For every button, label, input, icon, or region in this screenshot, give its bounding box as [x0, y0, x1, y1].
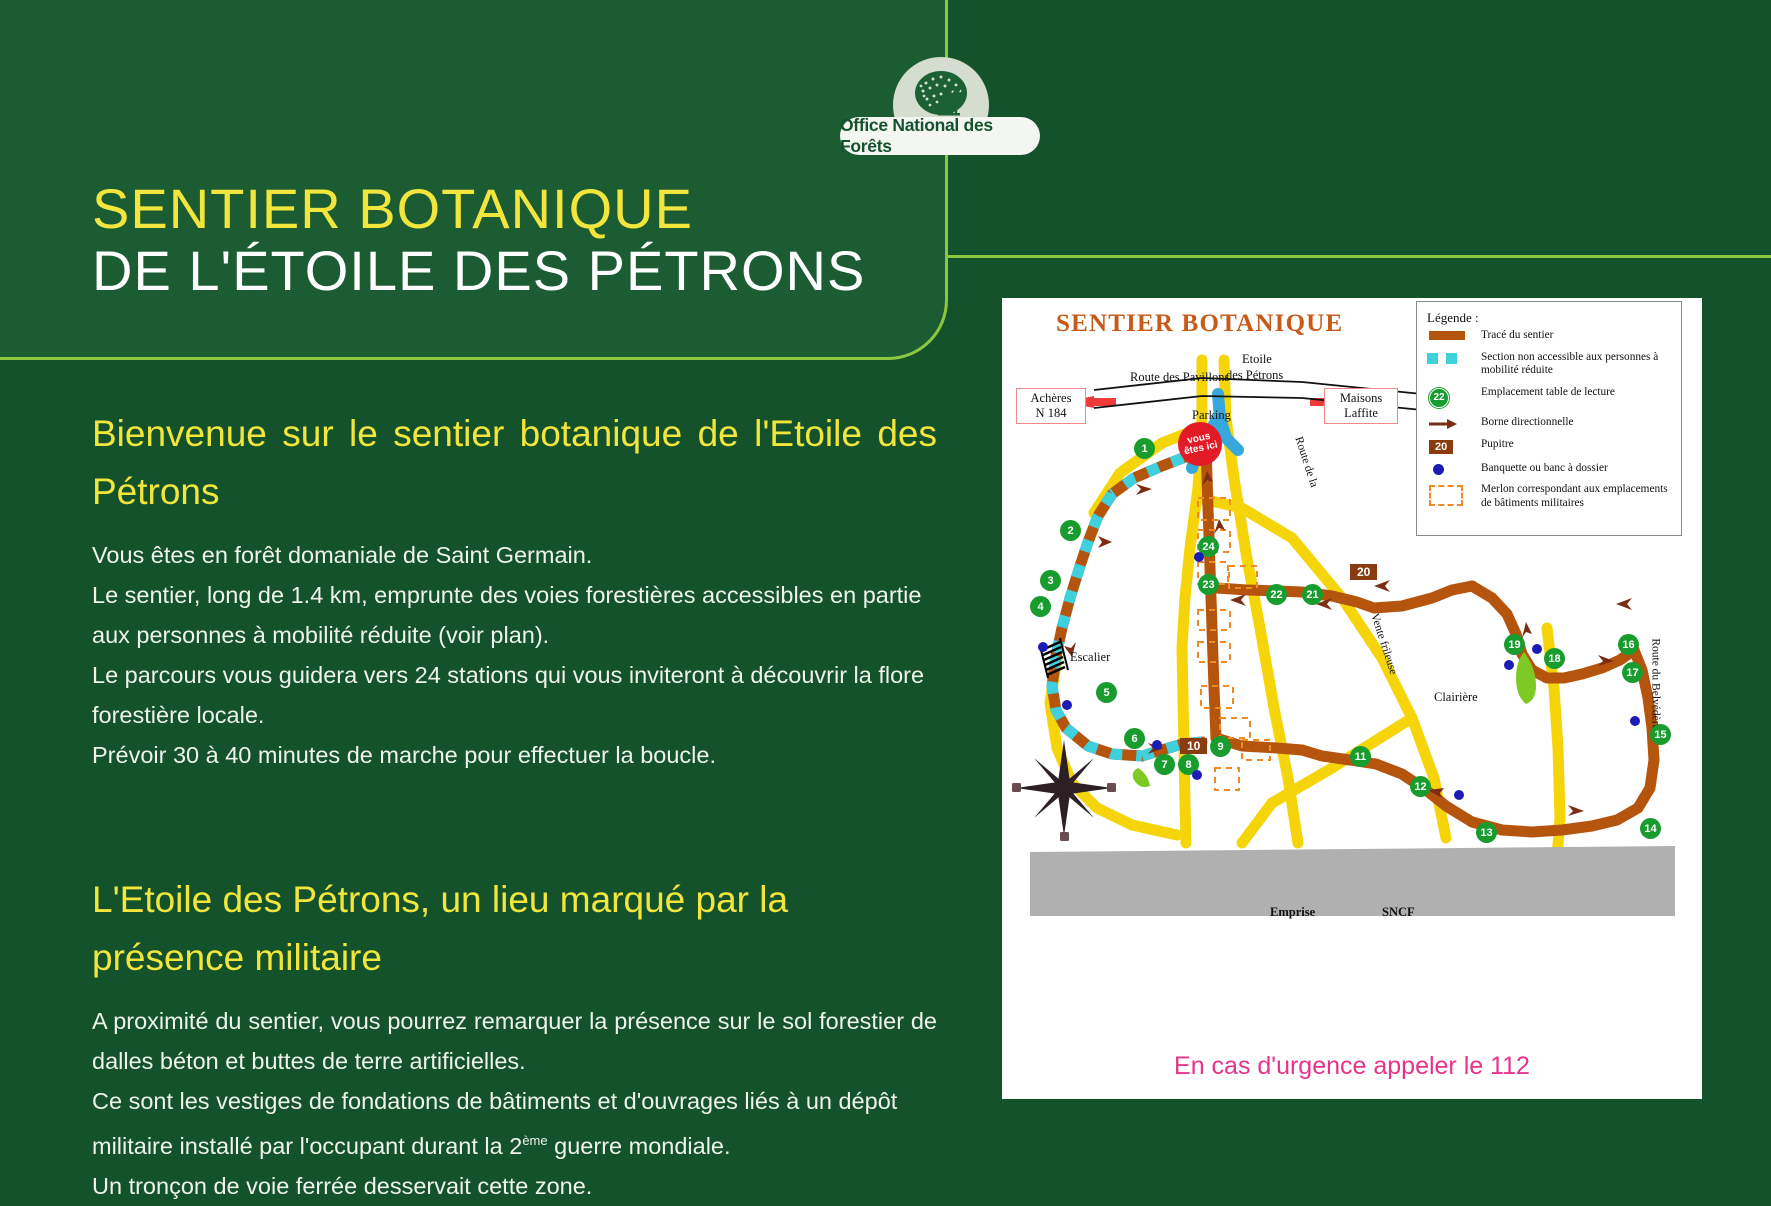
label-maisons-line2: Laffite — [1344, 406, 1378, 420]
section-military-heading: L'Etoile des Pétrons, un lieu marqué par… — [92, 871, 937, 987]
label-maisons-laffite: Maisons Laffite — [1324, 388, 1398, 424]
welcome-para-2: Le sentier, long de 1.4 km, emprunte des… — [92, 575, 937, 655]
header-divider-line — [948, 255, 1771, 258]
trail-line-icon — [1427, 329, 1481, 340]
legend-label-non-accessible: Section non accessible aux personnes à m… — [1481, 351, 1675, 378]
station-marker-23[interactable]: 23 — [1198, 574, 1219, 595]
label-acheres-line2: N 184 — [1036, 406, 1067, 420]
station-marker-16[interactable]: 16 — [1618, 634, 1639, 655]
station-marker-18[interactable]: 18 — [1544, 648, 1565, 669]
station-marker-2[interactable]: 2 — [1060, 520, 1081, 541]
you-are-here-badge: vous êtes ici — [1178, 422, 1222, 466]
title-line-2: DE L'ÉTOILE DES PÉTRONS — [92, 240, 865, 302]
content-column: Bienvenue sur le sentier botanique de l'… — [92, 405, 937, 1206]
label-emprise: Emprise — [1270, 905, 1315, 920]
station-marker-12[interactable]: 12 — [1410, 776, 1431, 797]
station-marker-11[interactable]: 11 — [1350, 746, 1371, 767]
station-marker-17[interactable]: 17 — [1622, 662, 1643, 683]
section-military: L'Etoile des Pétrons, un lieu marqué par… — [92, 871, 937, 1206]
station-marker-5[interactable]: 5 — [1096, 682, 1117, 703]
title-line-1: SENTIER BOTANIQUE — [92, 178, 865, 240]
map-legend: Légende : Tracé du sentier Section non a… — [1416, 301, 1682, 536]
station-marker-7[interactable]: 7 — [1154, 754, 1175, 775]
label-clairiere: Clairière — [1434, 690, 1478, 705]
pupitre-marker-10[interactable]: 10 — [1180, 738, 1207, 754]
bench-marker — [1454, 790, 1464, 800]
legend-label-bench: Banquette ou banc à dossier — [1481, 462, 1608, 476]
station-marker-6[interactable]: 6 — [1124, 728, 1145, 749]
legend-item-merlon: Merlon correspondant aux emplacements de… — [1427, 483, 1675, 510]
pupitre-badge-icon: 20 — [1427, 438, 1481, 454]
station-marker-3[interactable]: 3 — [1040, 570, 1061, 591]
station-marker-22[interactable]: 22 — [1266, 584, 1287, 605]
emergency-notice: En cas d'urgence appeler le 112 — [1002, 1052, 1702, 1081]
bench-marker — [1532, 644, 1542, 654]
label-etoile-line1: Etoile — [1242, 352, 1272, 367]
legend-item-pupitre: 20 Pupitre — [1427, 438, 1675, 454]
trail-map: SENTIER BOTANIQUE Emprise SNCF — [1002, 298, 1702, 1099]
station-marker-21[interactable]: 21 — [1302, 584, 1323, 605]
logo-wordmark: Office National des Forêts — [840, 117, 1040, 155]
station-marker-14[interactable]: 14 — [1640, 818, 1661, 839]
label-route-du-belvedere: Route du Belvédère — [1650, 638, 1662, 729]
legend-item-direction-marker: Borne directionnelle — [1427, 416, 1675, 430]
onf-logo: Office National des Forêts — [840, 57, 1040, 167]
section-welcome-heading: Bienvenue sur le sentier botanique de l'… — [92, 405, 937, 521]
label-route-des-pavillons: Route des Pavillons — [1130, 370, 1229, 385]
legend-label-reading-table: Emplacement table de lecture — [1481, 386, 1615, 400]
bench-marker — [1062, 700, 1072, 710]
legend-label-pupitre: Pupitre — [1481, 438, 1514, 452]
label-parking: Parking — [1192, 408, 1231, 423]
page-title: SENTIER BOTANIQUE DE L'ÉTOILE DES PÉTRON… — [92, 178, 865, 302]
legend-title: Légende : — [1427, 310, 1675, 326]
legend-item-trail: Tracé du sentier — [1427, 329, 1675, 343]
station-marker-9[interactable]: 9 — [1210, 736, 1231, 757]
legend-item-non-accessible: Section non accessible aux personnes à m… — [1427, 351, 1675, 378]
welcome-para-3: Le parcours vous guidera vers 24 station… — [92, 655, 937, 735]
station-circle-icon: 22 — [1427, 386, 1481, 408]
bench-marker — [1038, 642, 1048, 652]
military-para-2-pre: Ce sont les vestiges de fondations de bâ… — [92, 1088, 897, 1159]
welcome-para-4: Prévoir 30 à 40 minutes de marche pour e… — [92, 735, 937, 775]
station-marker-19[interactable]: 19 — [1504, 634, 1525, 655]
you-are-here-text: vous êtes ici — [1176, 430, 1223, 459]
welcome-para-1: Vous êtes en forêt domaniale de Saint Ge… — [92, 535, 937, 575]
military-para-2-sup: ème — [522, 1133, 547, 1148]
direction-arrow-icon — [1427, 416, 1481, 430]
station-marker-15[interactable]: 15 — [1650, 724, 1671, 745]
station-marker-1[interactable]: 1 — [1134, 438, 1155, 459]
station-marker-4[interactable]: 4 — [1030, 596, 1051, 617]
blue-dot-icon — [1427, 462, 1481, 475]
military-para-2: Ce sont les vestiges de fondations de bâ… — [92, 1081, 937, 1166]
legend-label-merlon: Merlon correspondant aux emplacements de… — [1481, 483, 1675, 510]
section-military-body: A proximité du sentier, vous pourrez rem… — [92, 1001, 937, 1206]
legend-label-trail: Tracé du sentier — [1481, 329, 1553, 343]
small-green-area — [1133, 768, 1150, 787]
sncf-right-of-way-band — [1030, 846, 1675, 916]
label-acheres: Achères N 184 — [1016, 388, 1086, 424]
military-para-3: Un tronçon de voie ferrée desservait cet… — [92, 1166, 937, 1206]
bench-marker — [1152, 740, 1162, 750]
legend-label-direction-marker: Borne directionnelle — [1481, 416, 1574, 430]
section-welcome: Bienvenue sur le sentier botanique de l'… — [92, 405, 937, 775]
label-sncf: SNCF — [1382, 905, 1415, 920]
military-para-1: A proximité du sentier, vous pourrez rem… — [92, 1001, 937, 1081]
logo-wordmark-text: Office National des Forêts — [840, 115, 1040, 157]
legend-item-bench: Banquette ou banc à dossier — [1427, 462, 1675, 476]
label-acheres-line1: Achères — [1031, 391, 1072, 405]
cyan-squares-icon — [1427, 351, 1481, 364]
bench-marker — [1192, 770, 1202, 780]
label-maisons-line1: Maisons — [1340, 391, 1382, 405]
label-escalier: Escalier — [1070, 650, 1110, 665]
section-welcome-body: Vous êtes en forêt domaniale de Saint Ge… — [92, 535, 937, 775]
military-para-2-post: guerre mondiale. — [548, 1133, 731, 1159]
legend-item-reading-table: 22 Emplacement table de lecture — [1427, 386, 1675, 408]
legend-station-sample: 22 — [1429, 388, 1449, 408]
label-etoile-line2: des Pétrons — [1226, 368, 1283, 383]
bench-marker — [1630, 716, 1640, 726]
station-marker-13[interactable]: 13 — [1476, 822, 1497, 843]
pupitre-marker-20[interactable]: 20 — [1350, 564, 1377, 580]
legend-pupitre-sample: 20 — [1429, 440, 1453, 454]
bench-marker — [1504, 660, 1514, 670]
bench-marker — [1194, 552, 1204, 562]
dashed-box-icon — [1427, 483, 1481, 506]
clairiere-green-area — [1516, 652, 1536, 704]
